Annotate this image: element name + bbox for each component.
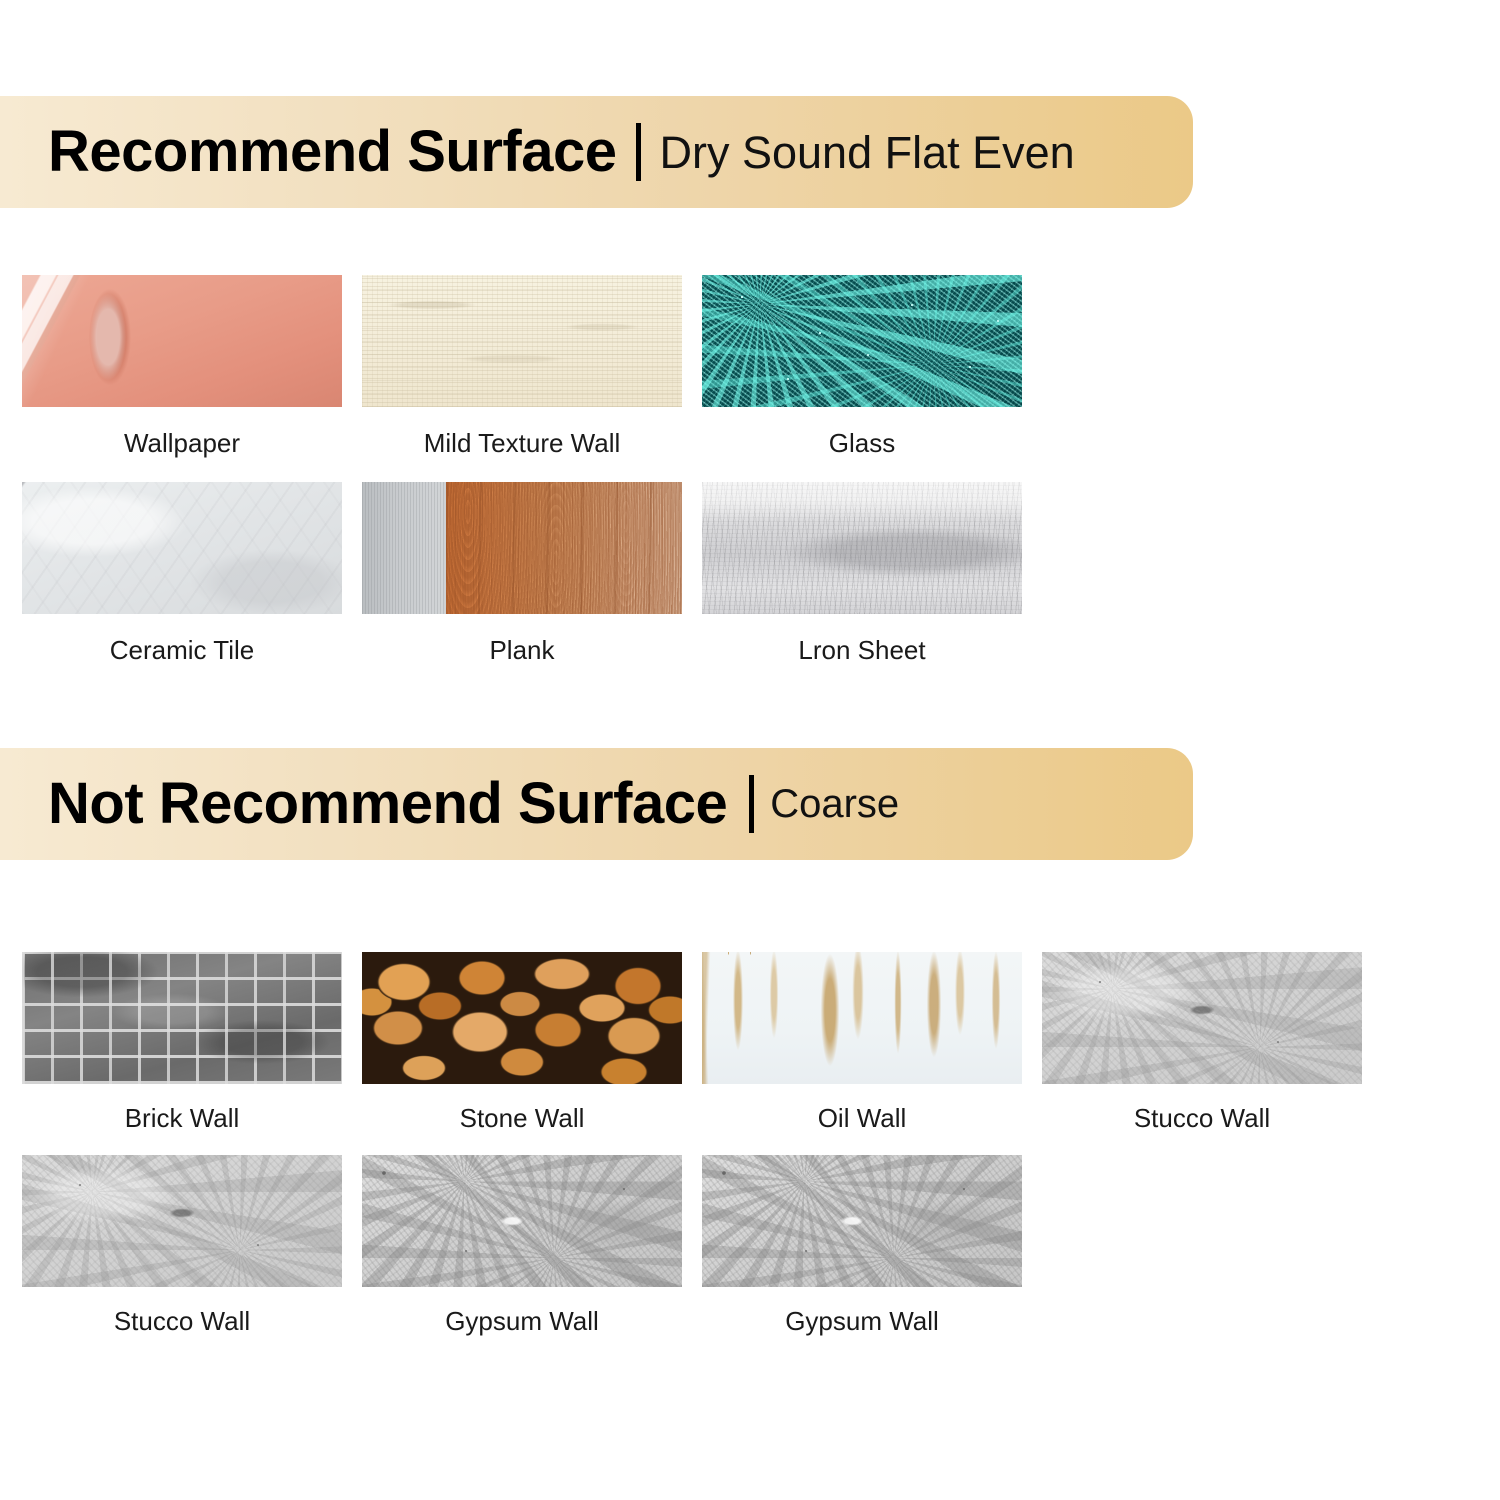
stucco-wall-swatch-image [22, 1155, 342, 1287]
swatch-cell: Brick Wall [22, 952, 342, 1133]
swatch-cell: Gypsum Wall [362, 1155, 682, 1336]
swatch-label: Gypsum Wall [362, 1307, 682, 1336]
stucco-wall-swatch-image [1042, 952, 1362, 1084]
swatch-cell: Wallpaper [22, 275, 342, 458]
swatch-cell: Plank [362, 482, 682, 665]
swatch-label: Mild Texture Wall [362, 429, 682, 458]
swatch-label: Stone Wall [362, 1104, 682, 1133]
brick-wall-swatch-image [22, 952, 342, 1084]
gypsum-wall-swatch-image [702, 1155, 1022, 1287]
plank-swatch-image [362, 482, 682, 614]
infographic-page: Recommend Surface Dry Sound Flat Even Wa… [0, 0, 1500, 1500]
title-separator-bar [636, 123, 641, 181]
recommend-surface-subtitle: Dry Sound Flat Even [659, 130, 1074, 175]
swatch-label: Stucco Wall [1042, 1104, 1362, 1133]
wallpaper-swatch-image [22, 275, 342, 407]
swatch-cell: Stucco Wall [22, 1155, 342, 1336]
swatch-label: Gypsum Wall [702, 1307, 1022, 1336]
swatch-label: Brick Wall [22, 1104, 342, 1133]
not-recommend-surface-banner: Not Recommend Surface Coarse [0, 748, 1193, 860]
swatch-cell: Ceramic Tile [22, 482, 342, 665]
oil-wall-swatch-image [702, 952, 1022, 1084]
swatch-label: Stucco Wall [22, 1307, 342, 1336]
recommend-surface-banner: Recommend Surface Dry Sound Flat Even [0, 96, 1193, 208]
mild-texture-wall-swatch-image [362, 275, 682, 407]
swatch-label: Plank [362, 636, 682, 665]
recommend-swatch-row-1: Wallpaper Mild Texture Wall Glass [22, 275, 1022, 458]
swatch-label: Glass [702, 429, 1022, 458]
recommend-surface-title: Recommend Surface [48, 123, 616, 181]
title-separator-bar [749, 775, 754, 833]
not-recommend-surface-title: Not Recommend Surface [48, 775, 727, 833]
swatch-cell: Gypsum Wall [702, 1155, 1022, 1336]
swatch-label: Oil Wall [702, 1104, 1022, 1133]
plank-wood-grain [446, 482, 682, 614]
swatch-cell: Stucco Wall [1042, 952, 1362, 1133]
stone-wall-swatch-image [362, 952, 682, 1084]
not-recommend-surface-subtitle: Coarse [770, 784, 899, 824]
not-recommend-swatch-row-1: Brick Wall Stone Wall Oil Wall Stucco Wa… [22, 952, 1362, 1133]
swatch-cell: Stone Wall [362, 952, 682, 1133]
swatch-label: Ceramic Tile [22, 636, 342, 665]
iron-sheet-swatch-image [702, 482, 1022, 614]
swatch-label: Lron Sheet [702, 636, 1022, 665]
swatch-cell: Oil Wall [702, 952, 1022, 1133]
ceramic-tile-swatch-image [22, 482, 342, 614]
swatch-cell: Mild Texture Wall [362, 275, 682, 458]
gypsum-wall-swatch-image [362, 1155, 682, 1287]
swatch-cell: Glass [702, 275, 1022, 458]
plank-gray-band [362, 482, 444, 614]
glass-swatch-image [702, 275, 1022, 407]
recommend-swatch-row-2: Ceramic Tile Plank Lron Sheet [22, 482, 1022, 665]
swatch-label: Wallpaper [22, 429, 342, 458]
swatch-cell: Lron Sheet [702, 482, 1022, 665]
not-recommend-swatch-row-2: Stucco Wall Gypsum Wall Gypsum Wall [22, 1155, 1362, 1336]
